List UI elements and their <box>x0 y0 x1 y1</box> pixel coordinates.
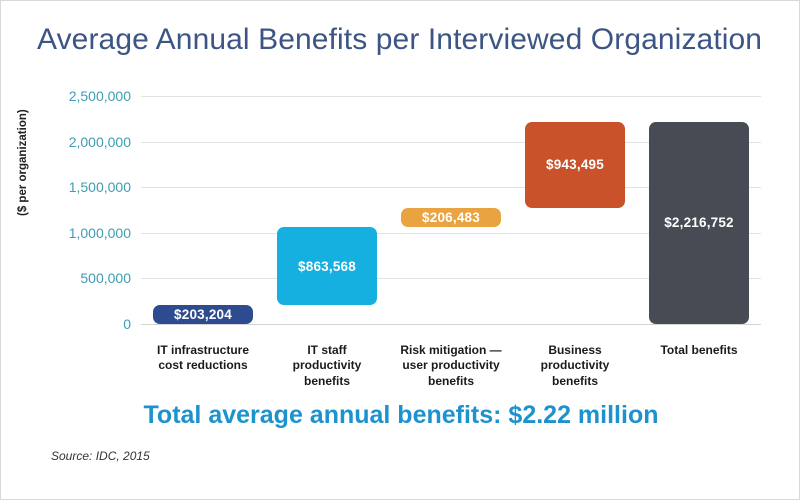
gridline <box>141 96 761 97</box>
x-axis-category-line-1: IT staff <box>262 343 392 358</box>
y-axis-title: ($ per organization) <box>17 109 29 216</box>
x-axis-category-line-3: benefits <box>262 374 392 389</box>
bar[interactable]: $943,495 <box>525 122 625 208</box>
bar-value-label: $2,216,752 <box>664 215 734 230</box>
bar-value-label: $206,483 <box>422 210 480 225</box>
x-axis-category-label: IT staffproductivitybenefits <box>262 343 392 389</box>
chart-slide: Average Annual Benefits per Interviewed … <box>0 0 800 500</box>
x-axis-category-line-1: Risk mitigation — <box>386 343 516 358</box>
page-title: Average Annual Benefits per Interviewed … <box>37 23 767 57</box>
x-axis-category-line-3: benefits <box>510 374 640 389</box>
source-note: Source: IDC, 2015 <box>51 449 150 463</box>
x-axis-category-line-2: productivity <box>262 358 392 373</box>
x-axis-category-line-2: cost reductions <box>138 358 268 373</box>
x-axis-category-label: Total benefits <box>634 343 764 358</box>
bar-value-label: $203,204 <box>174 307 232 322</box>
x-axis-category-line-1: Business <box>510 343 640 358</box>
y-axis-tick: 2,500,000 <box>1 88 131 104</box>
x-axis-category-label: Risk mitigation —user productivitybenefi… <box>386 343 516 389</box>
x-axis-category-line-3: benefits <box>386 374 516 389</box>
bar[interactable]: $203,204 <box>153 305 253 324</box>
x-axis-category-line-1: IT infrastructure <box>138 343 268 358</box>
y-axis-tick: 0 <box>1 316 131 332</box>
bar[interactable]: $863,568 <box>277 227 377 306</box>
plot-area: $203,204$863,568$206,483$943,495$2,216,7… <box>141 96 761 336</box>
bar[interactable]: $2,216,752 <box>649 122 749 324</box>
y-axis-tick: 500,000 <box>1 270 131 286</box>
axis-baseline <box>141 324 761 325</box>
x-axis-category-line-1: Total benefits <box>634 343 764 358</box>
bar[interactable]: $206,483 <box>401 208 501 227</box>
x-axis-category-label: Businessproductivitybenefits <box>510 343 640 389</box>
x-axis-category-line-2: user productivity <box>386 358 516 373</box>
y-axis-tick: 1,500,000 <box>1 179 131 195</box>
x-axis-category-label: IT infrastructurecost reductions <box>138 343 268 374</box>
total-callout: Total average annual benefits: $2.22 mil… <box>1 401 800 430</box>
y-axis-tick: 1,000,000 <box>1 225 131 241</box>
bar-value-label: $863,568 <box>298 259 356 274</box>
bar-value-label: $943,495 <box>546 157 604 172</box>
y-axis-tick: 2,000,000 <box>1 134 131 150</box>
x-axis-category-line-2: productivity <box>510 358 640 373</box>
